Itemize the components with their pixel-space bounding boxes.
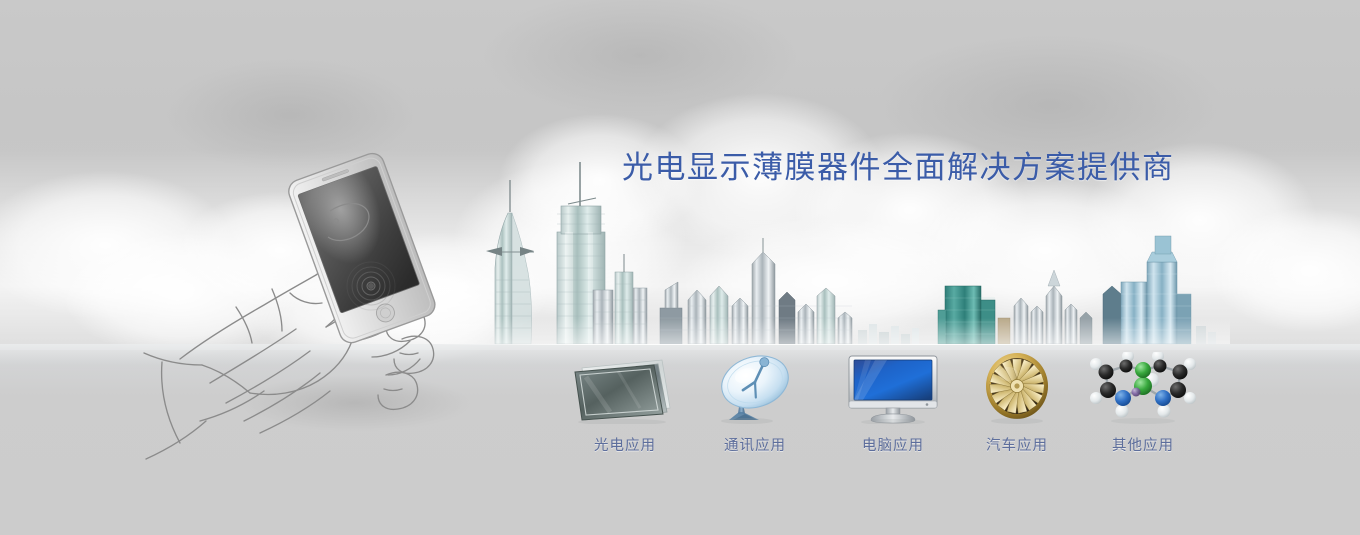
- lcd-monitor-icon: [831, 352, 955, 424]
- category-label: 电脑应用: [831, 434, 955, 455]
- category-item-optoelectronic[interactable]: 光电应用: [563, 352, 687, 455]
- hero-banner: 光电显示薄膜器件全面解决方案提供商: [0, 0, 1360, 535]
- category-label: 通讯应用: [693, 434, 817, 455]
- category-item-other[interactable]: 其他应用: [1081, 352, 1205, 455]
- category-item-automotive[interactable]: 汽车应用: [955, 352, 1079, 455]
- page-title: 光电显示薄膜器件全面解决方案提供商: [622, 142, 1175, 187]
- category-label: 其他应用: [1081, 434, 1205, 455]
- category-item-communication[interactable]: 通讯应用: [693, 352, 817, 455]
- smartphone: [285, 150, 438, 346]
- molecule-model-icon: [1081, 352, 1205, 424]
- horizon-line: [430, 344, 1190, 345]
- application-category-strip: 光电应用: [0, 352, 1360, 462]
- category-label: 汽车应用: [955, 434, 1079, 455]
- category-label: 光电应用: [563, 434, 687, 455]
- glass-film-panels-icon: [563, 352, 687, 424]
- satellite-dish-icon: [693, 352, 817, 424]
- alloy-wheel-icon: [955, 352, 1079, 424]
- category-item-computer[interactable]: 电脑应用: [831, 352, 955, 455]
